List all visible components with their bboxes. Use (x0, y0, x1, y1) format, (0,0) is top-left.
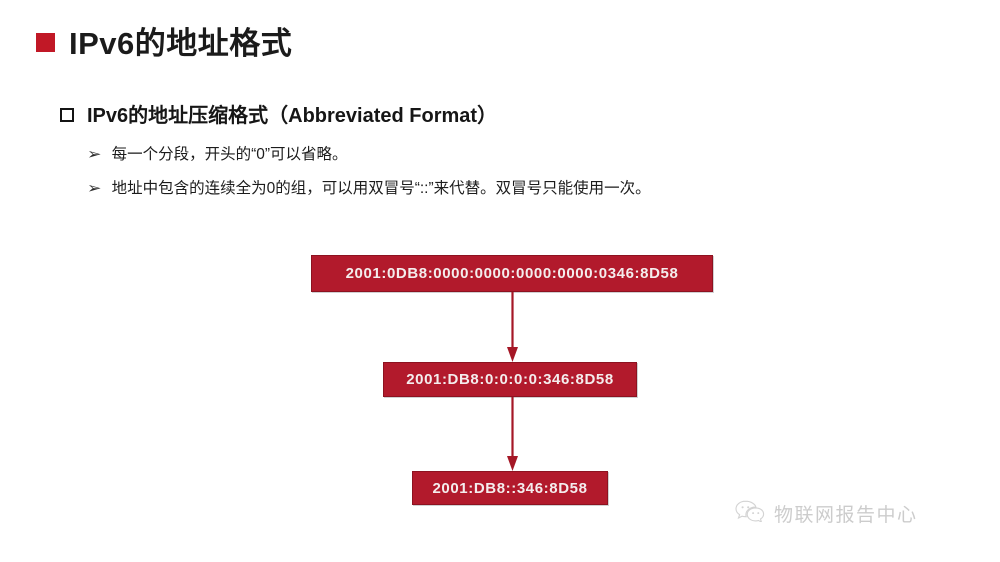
page-title-text: IPv6的地址格式 (69, 18, 292, 63)
wechat-icon (735, 500, 765, 527)
address-compression-flow-diagram: 2001:0DB8:0000:0000:0000:0000:0346:8D58 … (0, 250, 1000, 510)
bullet-list: ➢ 每一个分段，开头的“0”可以省略。 ➢ 地址中包含的连续全为0的组，可以用双… (88, 145, 651, 199)
flow-arrow-down-icon (506, 397, 519, 471)
flow-step-label: 2001:DB8:0:0:0:0:346:8D58 (406, 371, 614, 388)
list-item: ➢ 每一个分段，开头的“0”可以省略。 (88, 145, 651, 165)
flow-arrow-down-icon (506, 292, 519, 362)
section-heading-text: IPv6的地址压缩格式（Abbreviated Format） (87, 99, 497, 128)
page-title: IPv6的地址格式 (36, 18, 292, 63)
arrow-bullet-icon: ➢ (87, 145, 101, 165)
flow-step-box-leading-zeros-removed: 2001:DB8:0:0:0:0:346:8D58 (383, 362, 637, 397)
flow-step-label: 2001:0DB8:0000:0000:0000:0000:0346:8D58 (346, 265, 679, 282)
title-square-marker-icon (36, 33, 55, 52)
flow-step-box-double-colon-compressed: 2001:DB8::346:8D58 (412, 471, 608, 505)
section-heading: IPv6的地址压缩格式（Abbreviated Format） (60, 99, 497, 128)
flow-step-label: 2001:DB8::346:8D58 (432, 480, 587, 497)
watermark-label: 物联网报告中心 (774, 500, 918, 527)
list-item-label: 每一个分段，开头的“0”可以省略。 (112, 145, 348, 165)
list-item-label: 地址中包含的连续全为0的组，可以用双冒号“::”来代替。双冒号只能使用一次。 (112, 179, 651, 199)
flow-step-box-full-address: 2001:0DB8:0000:0000:0000:0000:0346:8D58 (311, 255, 713, 292)
list-item: ➢ 地址中包含的连续全为0的组，可以用双冒号“::”来代替。双冒号只能使用一次。 (88, 179, 651, 199)
hollow-square-bullet-icon (60, 108, 74, 122)
arrow-bullet-icon: ➢ (87, 179, 101, 199)
watermark: 物联网报告中心 (735, 500, 918, 527)
